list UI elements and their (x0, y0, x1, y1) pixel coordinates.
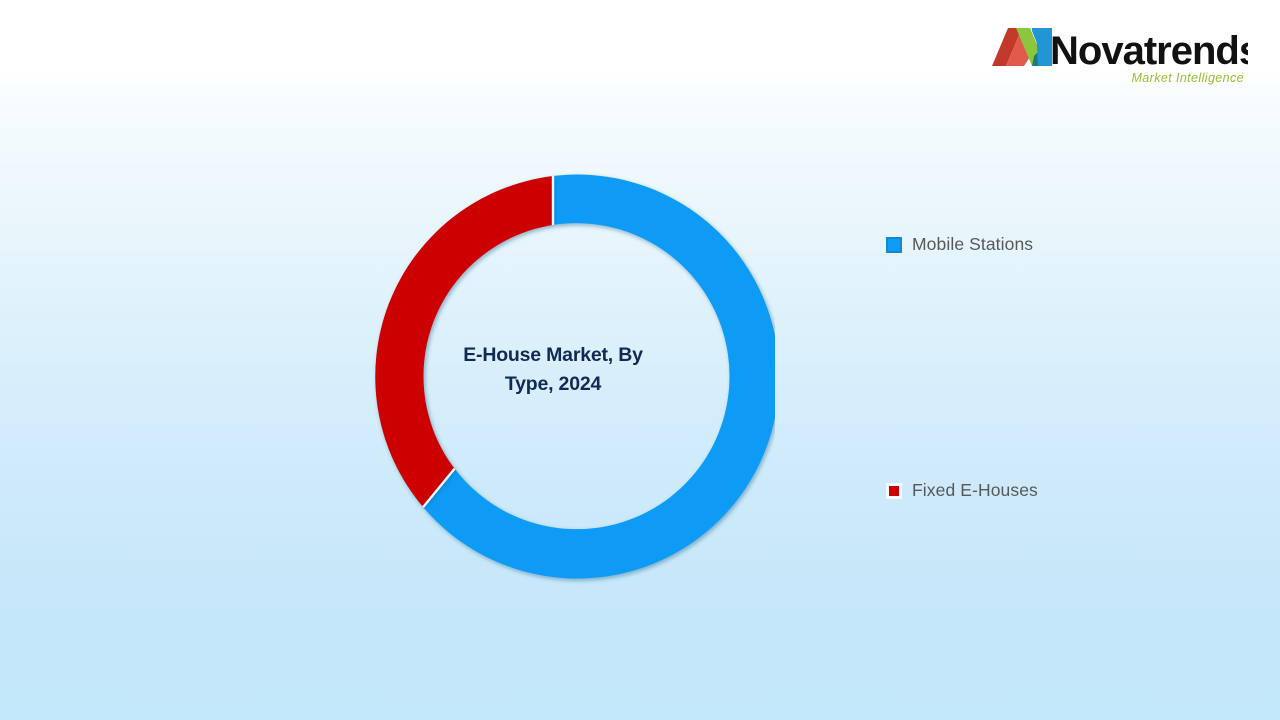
brand-logo-svg: Novatrends Market Intelligence (988, 18, 1248, 88)
brand-logo: Novatrends Market Intelligence (988, 18, 1248, 88)
logo-mark-icon (992, 28, 1052, 66)
legend-label-mobile-stations: Mobile Stations (912, 234, 1033, 255)
legend-item-mobile-stations[interactable]: Mobile Stations (886, 234, 1033, 255)
legend-label-fixed-e-houses: Fixed E-Houses (912, 480, 1038, 501)
donut-slice-fixed-e-houses[interactable] (375, 176, 553, 507)
legend-swatch-icon-fixed-e-houses (886, 483, 902, 499)
legend-swatch-icon-mobile-stations (886, 237, 902, 253)
logo-wordmark: Novatrends (1050, 29, 1248, 73)
donut-chart: E-House Market, By Type, 2024 (0, 0, 860, 720)
logo-tagline: Market Intelligence (1131, 71, 1244, 85)
legend-item-fixed-e-houses[interactable]: Fixed E-Houses (886, 480, 1038, 501)
donut-chart-svg (331, 156, 775, 600)
chart-legend: Mobile Stations Fixed E-Houses (886, 160, 1216, 580)
